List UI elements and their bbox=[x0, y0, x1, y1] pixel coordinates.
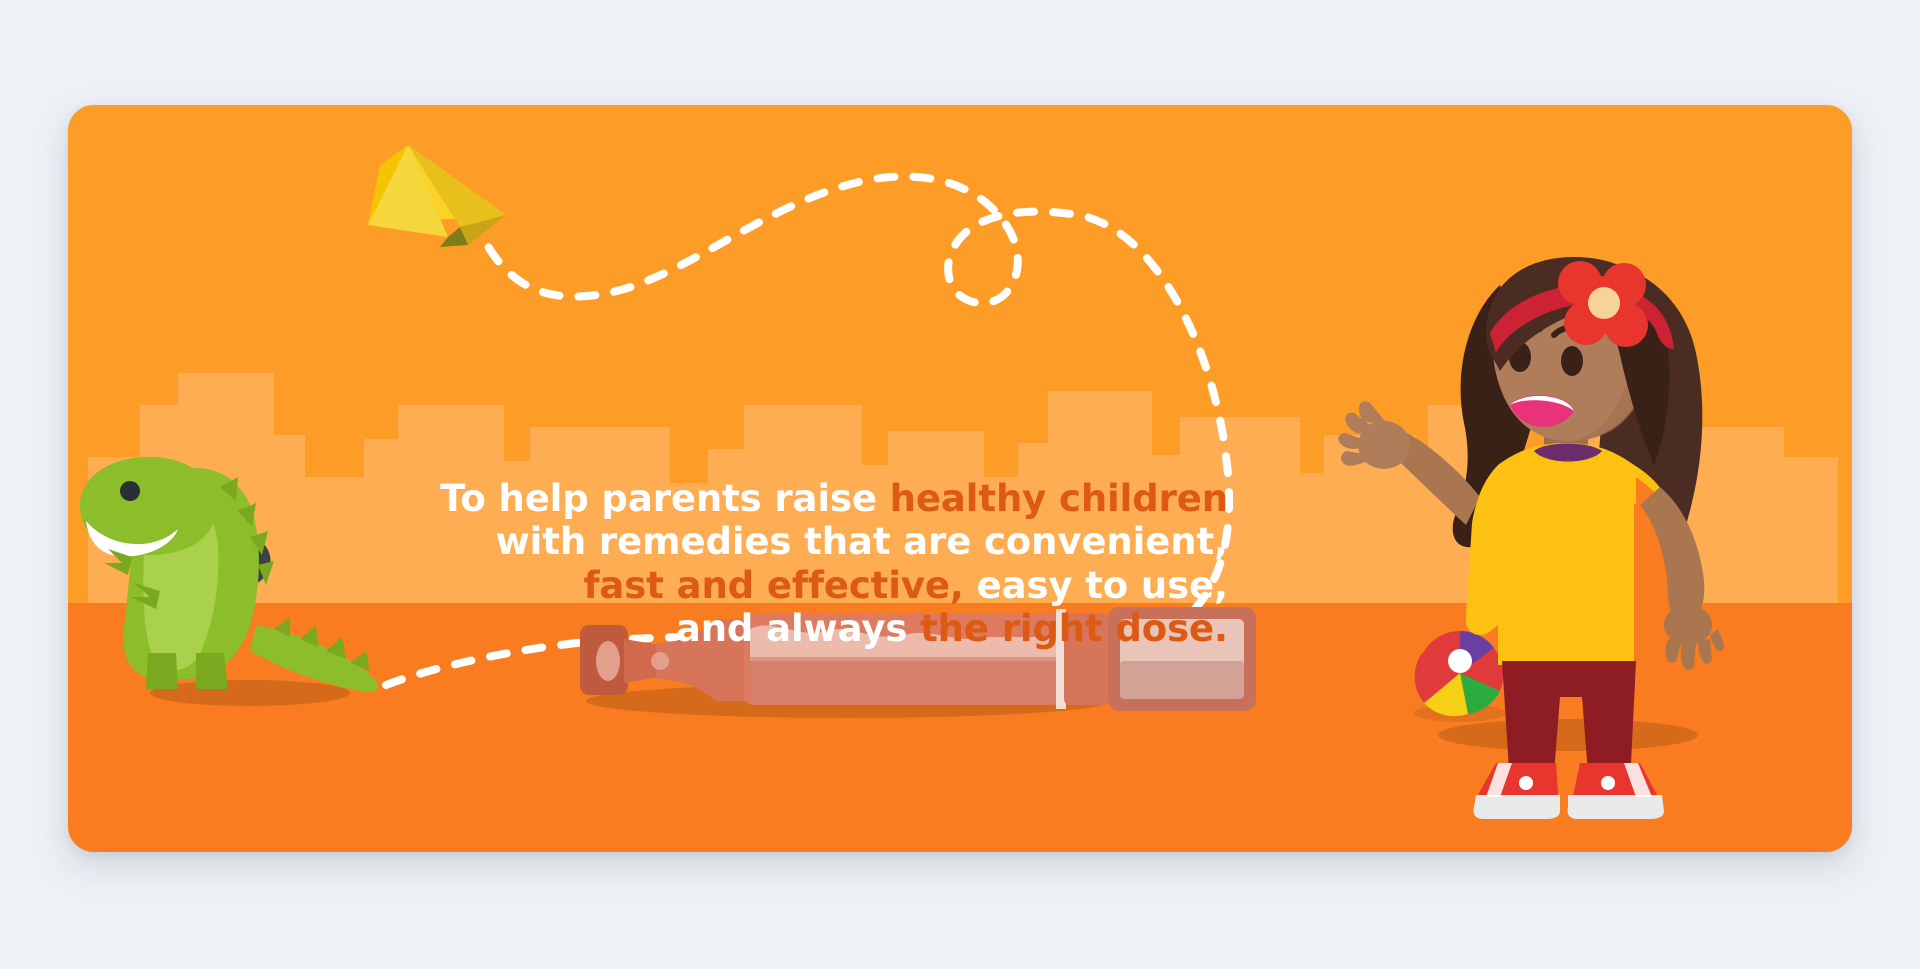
girl-eye-right bbox=[1561, 346, 1583, 376]
bottle-neck-highlight bbox=[651, 652, 669, 670]
bottle-shoulder-right bbox=[1064, 613, 1108, 705]
page-root: To help parents raise healthy children w… bbox=[0, 0, 1920, 969]
girl-shadow bbox=[1438, 719, 1698, 751]
bottle-cap-highlight bbox=[596, 641, 620, 681]
dinosaur-shadow bbox=[150, 680, 350, 706]
hero-banner-card: To help parents raise healthy children w… bbox=[68, 105, 1852, 852]
beach-ball-hub bbox=[1448, 649, 1472, 673]
bottle-liquid bbox=[750, 657, 1058, 703]
bottle-label-lower bbox=[1120, 661, 1244, 699]
dinosaur-eye bbox=[120, 481, 140, 501]
illustration-scene bbox=[68, 105, 1852, 852]
